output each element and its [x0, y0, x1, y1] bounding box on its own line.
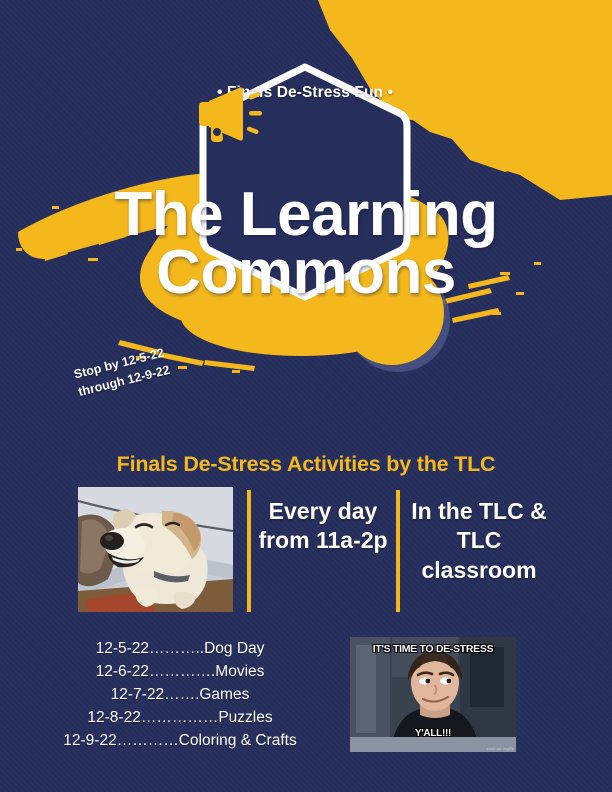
meme-image: IT'S TIME TO DE-STRESS Y'ALL!!! made-on-…: [350, 637, 516, 752]
divider-right: [396, 490, 400, 612]
when-text: Every day from 11a-2p: [258, 497, 388, 556]
schedule-list: 12-5-22………..Dog Day 12-6-22………….Movies 1…: [40, 638, 320, 753]
list-item: 12-6-22………….Movies: [40, 661, 320, 684]
list-item: 12-9-22…………Coloring & Crafts: [40, 730, 320, 753]
where-text: In the TLC & TLC classroom: [404, 497, 554, 585]
page-title: The Learning Commons: [0, 186, 612, 301]
list-item: 12-5-22………..Dog Day: [40, 638, 320, 661]
meme-watermark: made-on-imgflip: [487, 747, 514, 751]
info-row: Every day from 11a-2p In the TLC & TLC c…: [0, 487, 612, 617]
dog-photo: [78, 487, 233, 612]
divider-left: [247, 490, 251, 612]
list-item: 12-8-22……………Puzzles: [40, 707, 320, 730]
section-headline: Finals De-Stress Activities by the TLC: [0, 452, 612, 477]
meme-bottom-caption: Y'ALL!!!: [350, 728, 516, 739]
list-item: 12-7-22…….Games: [40, 684, 320, 707]
megaphone-icon: [193, 84, 263, 144]
meme-top-caption: IT'S TIME TO DE-STRESS: [350, 643, 516, 655]
title-line-2: Commons: [0, 244, 612, 302]
poster: • Finals De-Stress Fun • The Learning Co…: [0, 0, 612, 792]
